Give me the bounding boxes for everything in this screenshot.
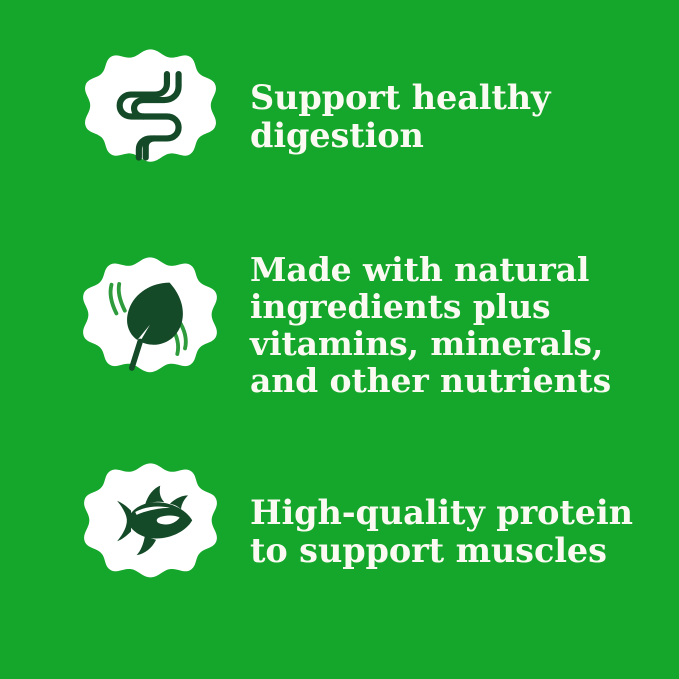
benefit-line: to support muscles [250,532,679,569]
benefit-line: ingredients plus [250,289,679,326]
benefit-text-natural-ingredients: Made with natural ingredients plus vitam… [250,252,679,399]
benefits-panel: Support healthy digestion Made with natu… [0,0,679,679]
benefit-text-protein: High-quality protein to support muscles [250,494,679,569]
benefit-line: vitamins, minerals, [250,326,679,363]
badge-digestion [82,48,219,185]
benefit-line: Support healthy [250,79,679,116]
badge-protein [81,462,220,601]
benefit-text-digestion: Support healthy digestion [250,79,679,154]
benefit-line: digestion [250,117,679,154]
benefit-line: and other nutrients [250,363,679,400]
benefit-line: High-quality protein [250,494,679,531]
benefit-row: High-quality protein to support muscles [0,462,679,601]
badge-natural-ingredients [80,256,220,396]
benefit-row: Support healthy digestion [0,48,679,185]
scalloped-badge-shape [85,49,216,161]
benefit-line: Made with natural [250,252,679,289]
benefit-row: Made with natural ingredients plus vitam… [0,256,679,396]
